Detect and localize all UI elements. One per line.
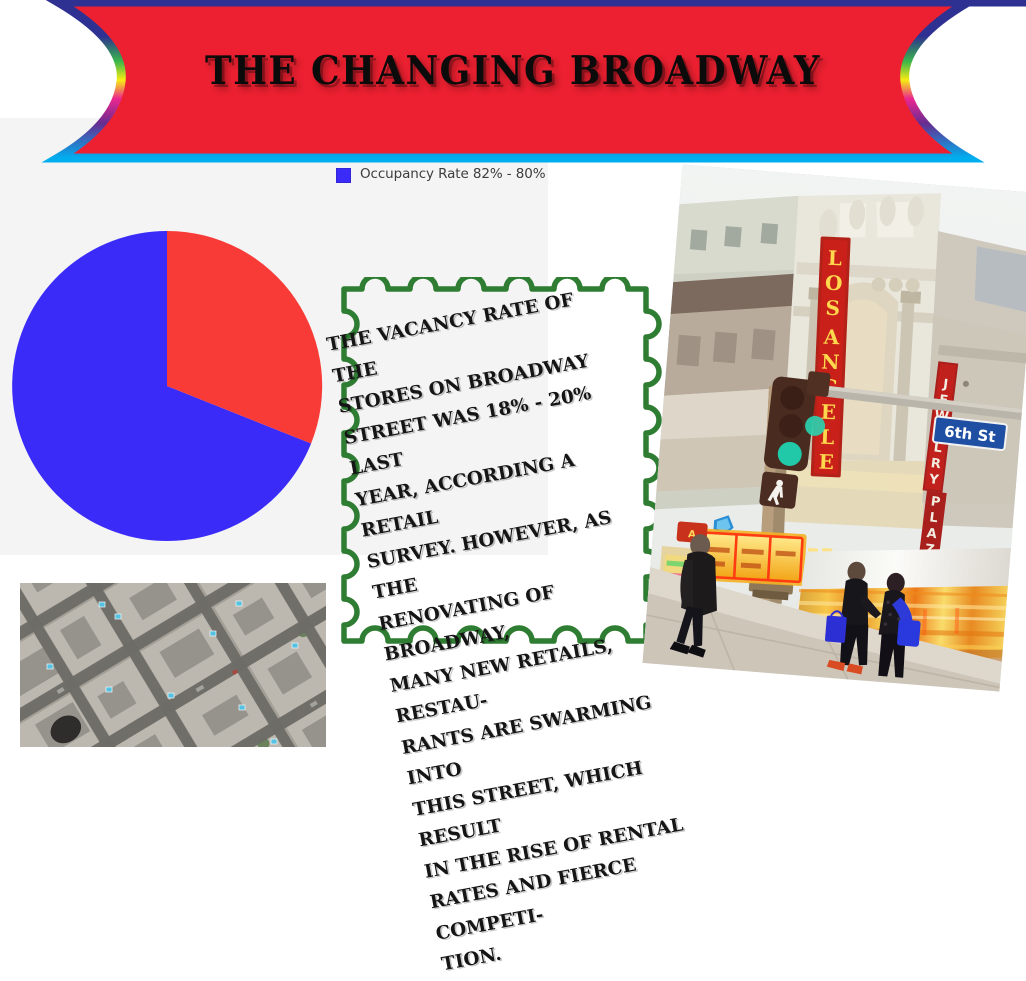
text-card: THE VACANCY RATE OF THE STORES ON BROADW… — [336, 277, 668, 679]
svg-text:S: S — [825, 296, 840, 321]
aerial-map-photo — [20, 583, 326, 747]
legend-swatch-occupancy — [336, 168, 351, 183]
text-card-body: THE VACANCY RATE OF THE STORES ON BROADW… — [324, 276, 679, 676]
street-photo: LOS ANG ELE JEW ELR Y PLA ZA — [643, 164, 1026, 691]
legend-item-occupancy: Occupancy Rate 82% - 80% — [336, 166, 548, 183]
svg-text:O: O — [825, 271, 843, 296]
svg-text:A: A — [926, 526, 938, 542]
svg-text:A: A — [822, 325, 840, 350]
svg-text:E: E — [818, 450, 834, 475]
svg-text:R: R — [930, 456, 942, 472]
svg-text:L: L — [827, 246, 842, 271]
title-banner: THE CHANGING BROADWAY — [0, 0, 1026, 166]
pie-chart — [10, 230, 324, 542]
page-title: THE CHANGING BROADWAY — [41, 48, 985, 94]
pedestrian-signal — [759, 471, 799, 509]
svg-text:P: P — [930, 494, 941, 510]
svg-text:N: N — [821, 350, 840, 375]
legend-label-occupancy: Occupancy Rate 82% - 80% — [360, 166, 545, 182]
